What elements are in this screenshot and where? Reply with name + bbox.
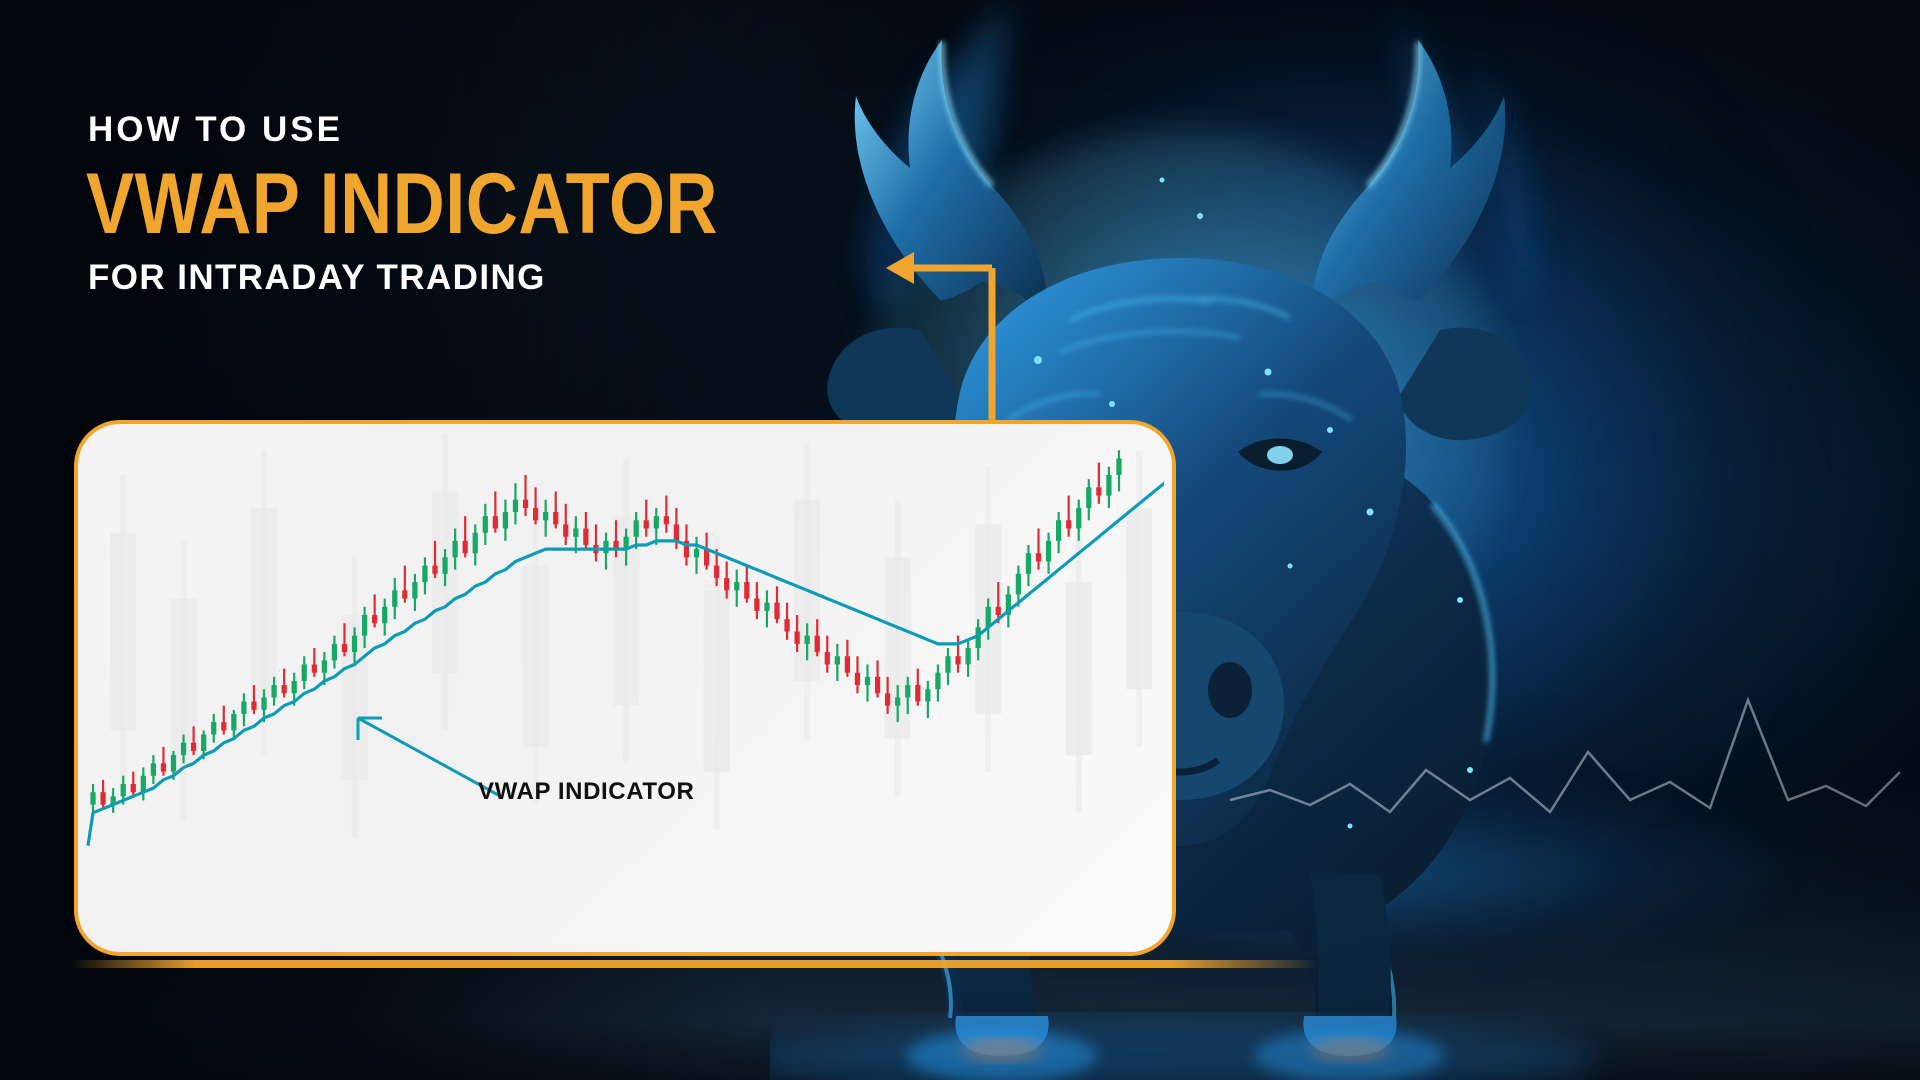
vwap-annotation-label: VWAP INDICATOR: [478, 778, 694, 806]
ghost-candles: [110, 434, 1152, 838]
candlestick-chart: [78, 424, 1164, 944]
chart-card-inner: [78, 424, 1172, 952]
headline-kicker: HOW TO USE: [88, 112, 906, 147]
headline-subtitle: FOR INTRADAY TRADING: [88, 260, 906, 295]
bottom-accent-strip: [70, 960, 1320, 968]
orange-callout-arrow: [880, 250, 1020, 435]
arrow-head-icon: [886, 252, 914, 284]
chart-card: [74, 420, 1176, 956]
candle-series: [90, 450, 1121, 817]
headline-block: HOW TO USE VWAP INDICATOR FOR INTRADAY T…: [86, 112, 906, 295]
page-title: VWAP INDICATOR: [86, 163, 775, 246]
banner-root: HOW TO USE VWAP INDICATOR FOR INTRADAY T…: [0, 0, 1920, 1080]
